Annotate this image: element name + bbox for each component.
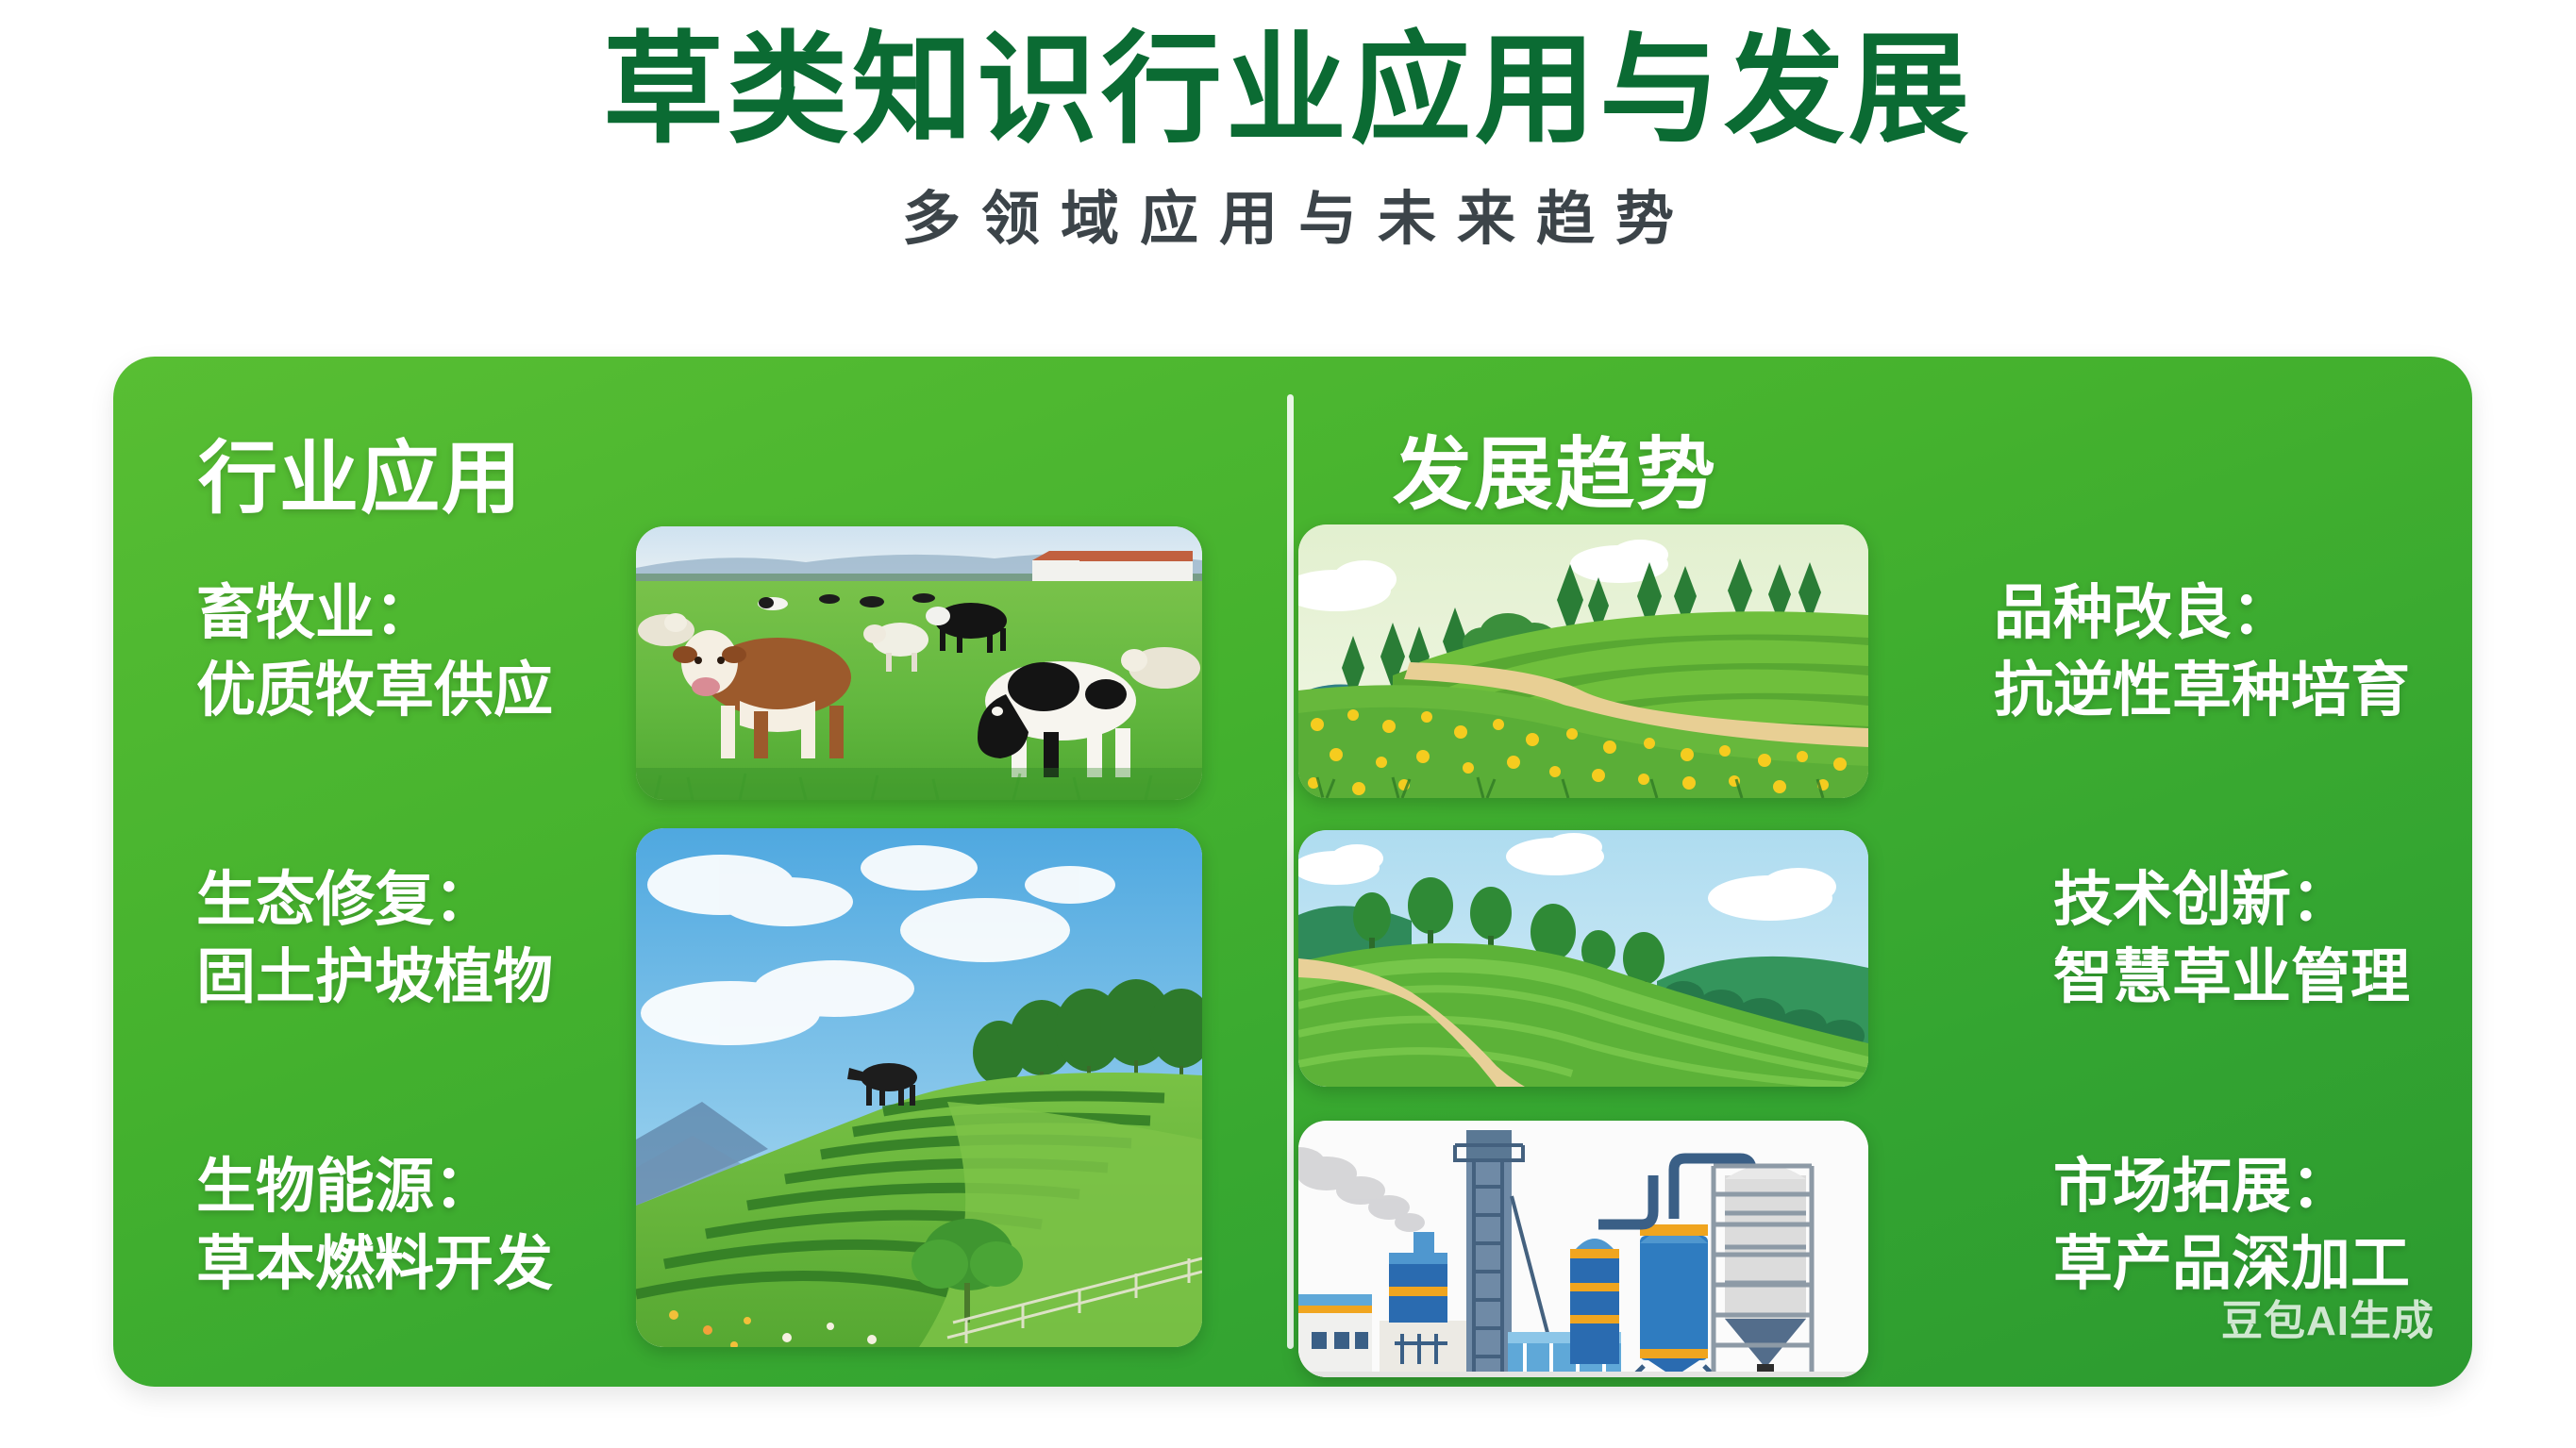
list-item-tech-innovation: 技术创新： 智慧草业管理	[2053, 862, 2410, 1017]
item-value: 优质牧草供应	[196, 653, 553, 730]
pasture-cows-photo	[636, 526, 1202, 800]
terraced-hillside-photo	[636, 828, 1202, 1347]
watermark: 豆包AI生成	[2221, 1287, 2434, 1347]
page-title: 草类知识行业应用与发展	[0, 21, 2576, 159]
farm-fields-illustration	[1298, 524, 1868, 798]
list-item-market-expansion: 市场拓展： 草产品深加工	[2053, 1149, 2410, 1304]
page-subtitle: 多领域应用与未来趋势	[0, 171, 2576, 256]
green-hill-trees-illustration	[1298, 830, 1868, 1087]
item-value: 智慧草业管理	[2053, 940, 2410, 1017]
page-header: 草类知识行业应用与发展 多领域应用与未来趋势	[0, 0, 2576, 256]
item-value: 草本燃料开发	[196, 1226, 553, 1304]
item-label: 生物能源：	[196, 1149, 553, 1226]
list-item-variety-improvement: 品种改良： 抗逆性草种培育	[1994, 575, 2410, 730]
item-label: 市场拓展：	[2053, 1149, 2410, 1226]
item-value: 固土护坡植物	[196, 940, 553, 1017]
item-label: 技术创新：	[2053, 862, 2410, 940]
item-label: 生态修复：	[196, 862, 553, 940]
processing-plant-illustration	[1298, 1121, 1868, 1377]
list-item-bioenergy: 生物能源： 草本燃料开发	[196, 1149, 553, 1304]
item-label: 品种改良：	[1994, 575, 2410, 653]
content-board: 行业应用 畜牧业： 优质牧草供应 生态修复： 固土护坡植物 生物能源： 草本燃料…	[113, 357, 2472, 1387]
item-value: 抗逆性草种培育	[1994, 653, 2410, 730]
list-item-eco-restoration: 生态修复： 固土护坡植物	[196, 862, 553, 1017]
panel-heading-right: 发展趋势	[1393, 411, 1717, 525]
item-label: 畜牧业：	[196, 575, 553, 653]
panel-development-trends: 发展趋势 品种改良： 抗逆性草种培育 技术创新： 智慧草业管理 市场拓展： 草产…	[1287, 357, 2472, 1387]
list-item-livestock: 畜牧业： 优质牧草供应	[196, 575, 553, 730]
panel-industry-applications: 行业应用 畜牧业： 优质牧草供应 生态修复： 固土护坡植物 生物能源： 草本燃料…	[113, 357, 1287, 1387]
panel-heading-left: 行业应用	[198, 415, 523, 529]
